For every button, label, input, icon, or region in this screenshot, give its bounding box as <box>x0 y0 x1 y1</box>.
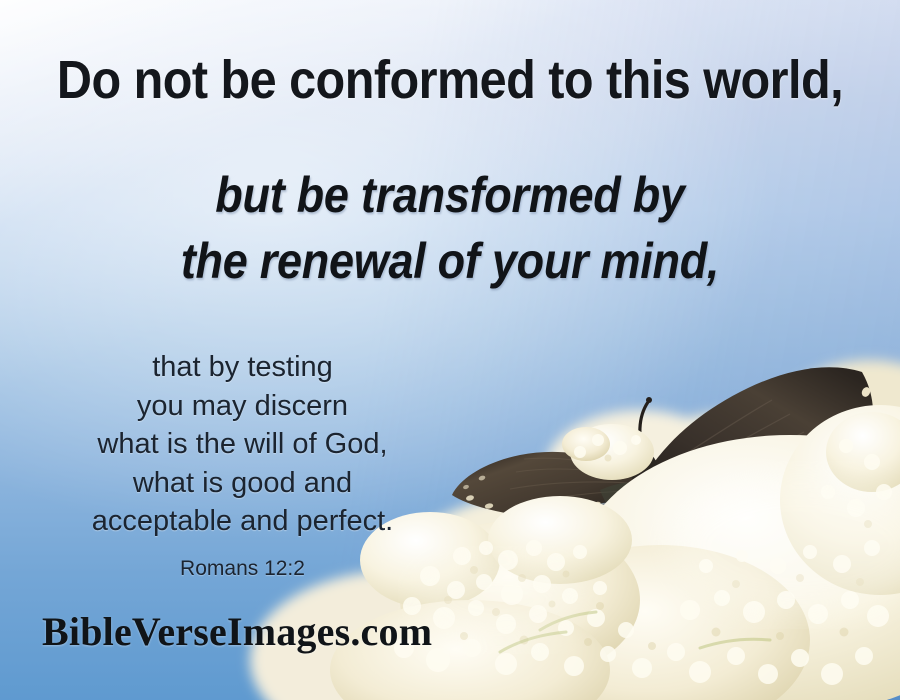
site-watermark: BibleVerseImages.com <box>42 608 432 655</box>
verse-body-line-3: what is the will of God, <box>10 425 475 464</box>
verse-body-block: that by testing you may discern what is … <box>10 348 475 541</box>
verse-emphasis-line-2: the renewal of your mind, <box>45 228 855 294</box>
verse-reference: Romans 12:2 <box>10 557 475 581</box>
verse-body-line-4: what is good and <box>10 464 475 503</box>
verse-emphasis-block: but be transformed by the renewal of you… <box>45 162 855 294</box>
verse-body-line-2: you may discern <box>10 387 475 426</box>
verse-emphasis-line-1: but be transformed by <box>45 162 855 228</box>
verse-line-primary: Do not be conformed to this world, <box>45 52 855 109</box>
bible-verse-image: Do not be conformed to this world, but b… <box>0 0 900 700</box>
verse-body-line-1: that by testing <box>10 348 475 387</box>
verse-body-line-5: acceptable and perfect. <box>10 502 475 541</box>
